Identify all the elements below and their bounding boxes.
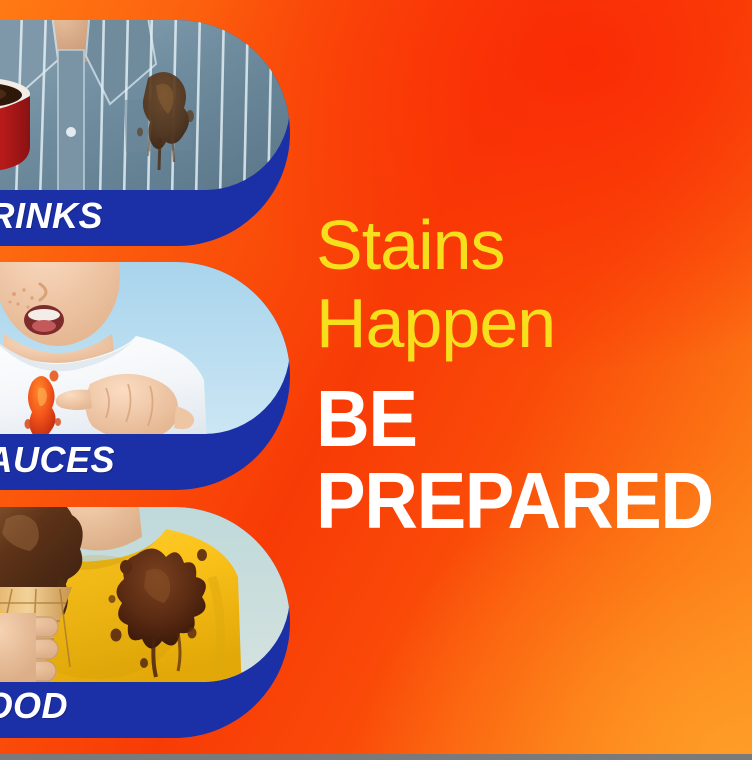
panel-drinks-label: DRINKS <box>0 194 103 238</box>
panel-food[interactable]: FOOD <box>0 507 290 738</box>
subheadline: BE PREPARED <box>316 378 716 542</box>
panel-sauces-label: SAUCES <box>0 438 115 482</box>
advertisement-canvas: DRINKS <box>0 0 752 760</box>
sauce-spill-illustration <box>0 262 290 434</box>
headline-line-1: Stains <box>316 206 505 284</box>
panel-drinks-photo <box>0 20 290 190</box>
panel-food-photo <box>0 507 290 682</box>
panel-food-label: FOOD <box>0 684 68 728</box>
chocolate-ice-cream-illustration <box>0 507 290 682</box>
stain-category-panels: DRINKS <box>0 0 300 760</box>
subheadline-line-1: BE <box>316 374 417 463</box>
headline-line-2: Happen <box>316 284 555 362</box>
subheadline-line-2: PREPARED <box>316 460 716 542</box>
headline: Stains Happen <box>316 206 746 362</box>
panel-drinks[interactable]: DRINKS <box>0 20 290 246</box>
panel-sauces-photo <box>0 262 290 434</box>
panel-sauces[interactable]: SAUCES <box>0 262 290 490</box>
coffee-spill-illustration <box>0 20 290 190</box>
copy-block: Stains Happen BE PREPARED <box>316 206 746 542</box>
